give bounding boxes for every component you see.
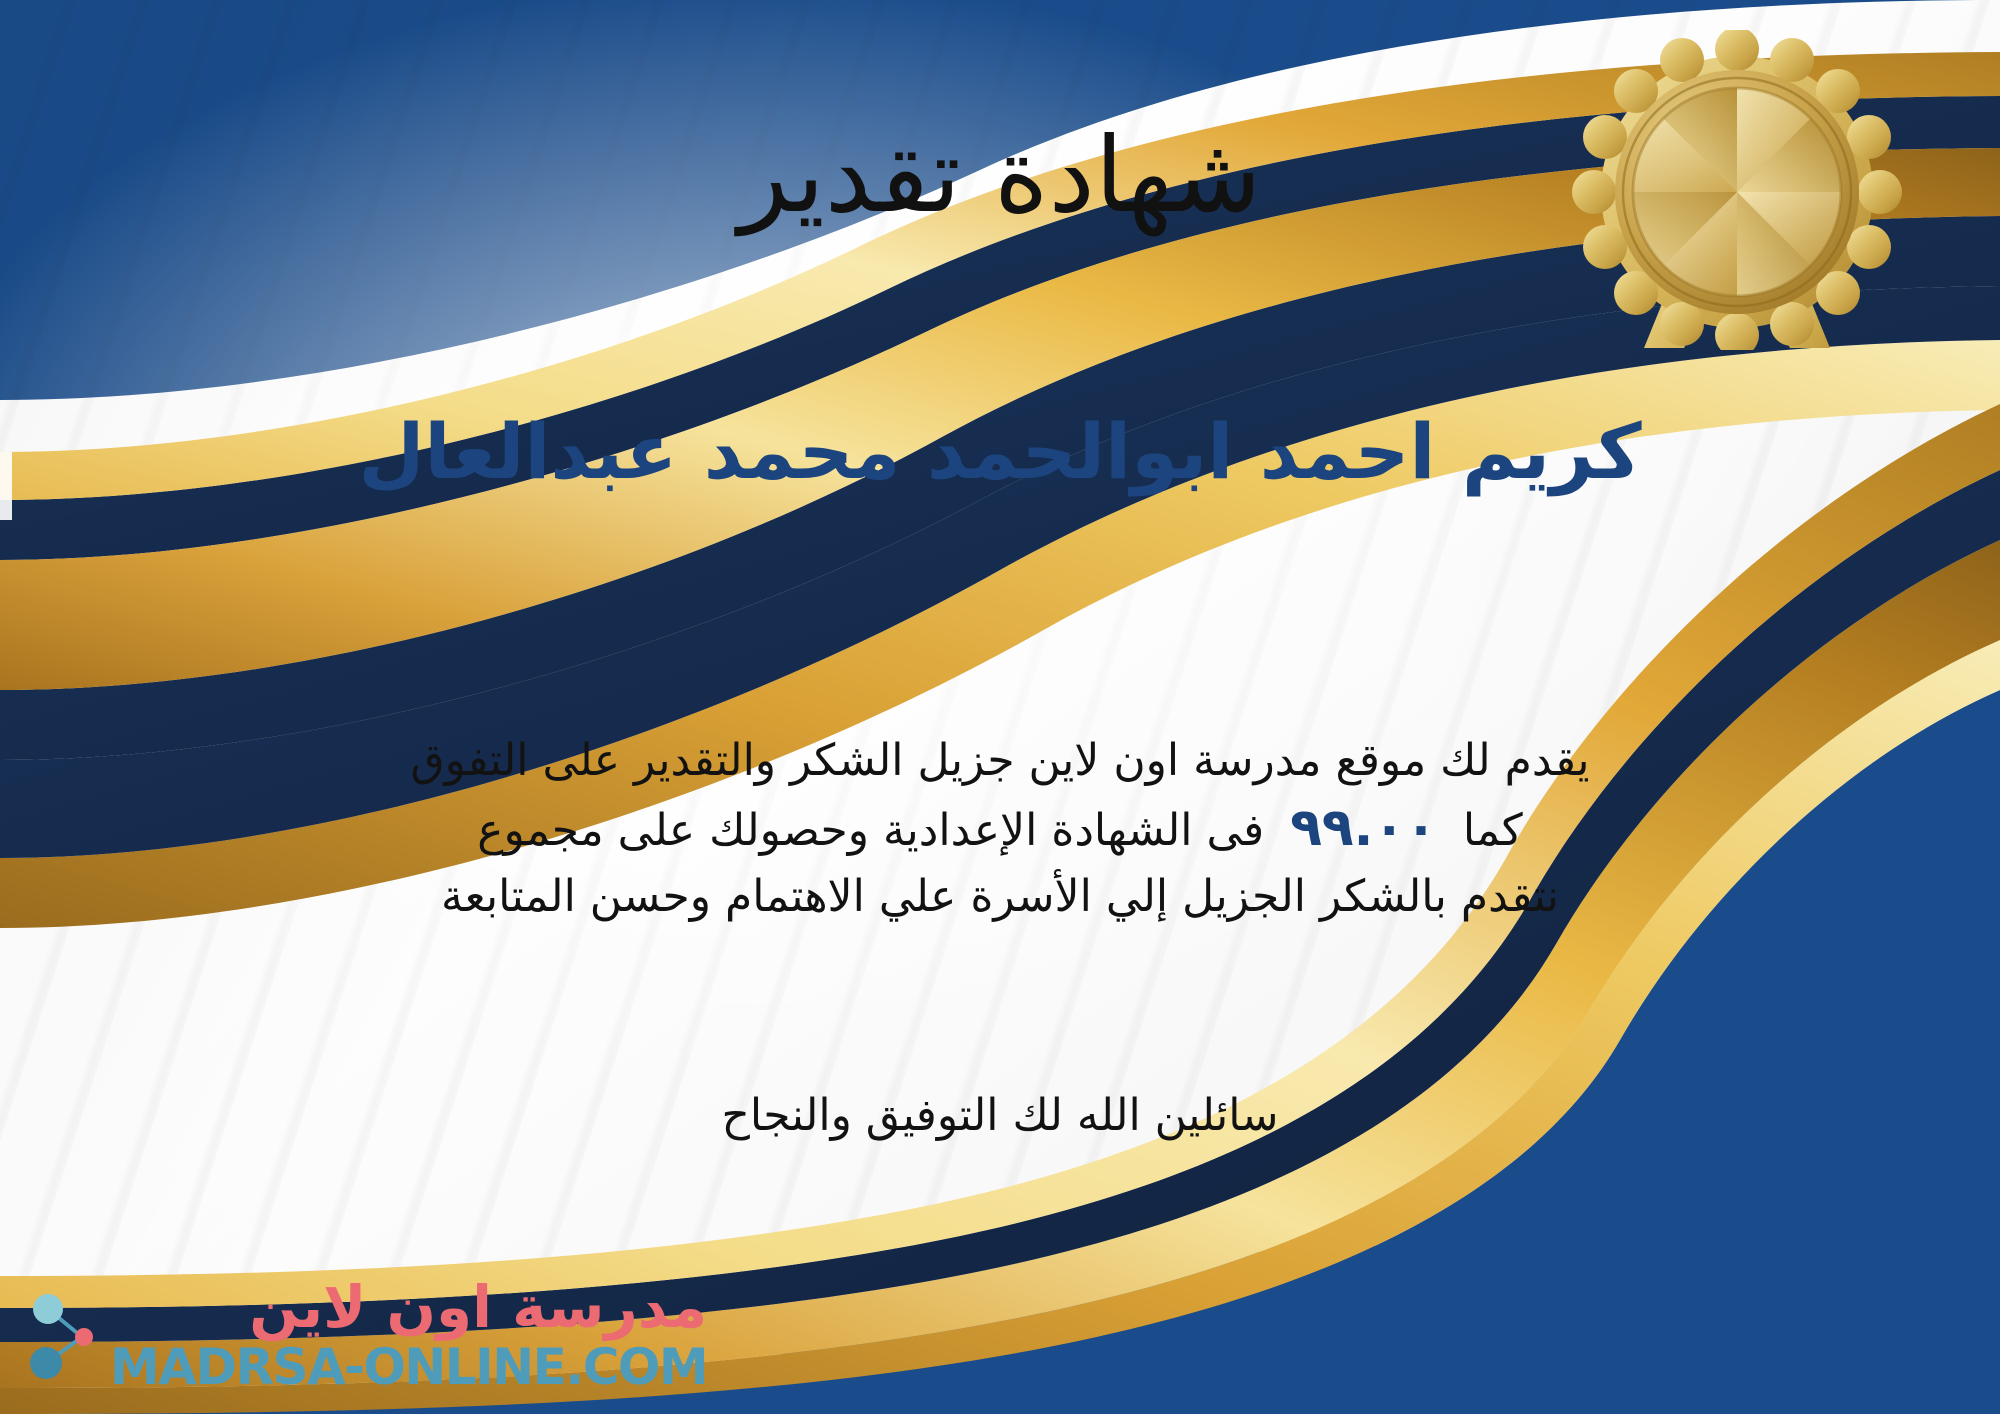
closing-line: سائلين الله لك التوفيق والنجاح [0,1090,2000,1141]
network-nodes-icon [26,1287,104,1383]
body-line-1: يقدم لك موقع مدرسة اون لاين جزيل الشكر و… [80,730,1920,792]
logo-url: MADRSA-ONLINE.COM [110,1342,707,1392]
page-title: شهادة تقدير [0,118,2000,232]
body-paragraph: يقدم لك موقع مدرسة اون لاين جزيل الشكر و… [0,730,2000,929]
site-logo[interactable]: مدرسة اون لاين MADRSA-ONLINE.COM [26,1278,707,1392]
body-line-3: نتقدم بالشكر الجزيل إلي الأسرة علي الاهت… [80,866,1920,928]
logo-text-group: مدرسة اون لاين MADRSA-ONLINE.COM [110,1278,707,1392]
certificate-content: شهادة تقدير كريم احمد ابوالحمد محمد عبدا… [0,0,2000,1414]
logo-arabic-name: مدرسة اون لاين [249,1278,707,1336]
recipient-name: كريم احمد ابوالحمد محمد عبدالعال [0,404,2000,499]
certificate-canvas: شهادة تقدير كريم احمد ابوالحمد محمد عبدا… [0,0,2000,1414]
body-line-2-prefix: فى الشهادة الإعدادية وحصولك على مجموع [477,805,1264,856]
body-line-2-wrapper: كما٩٩.٠٠فى الشهادة الإعدادية وحصولك على … [80,792,1920,866]
body-line-2-suffix: كما [1463,805,1523,856]
score-value: ٩٩.٠٠ [1264,798,1463,858]
